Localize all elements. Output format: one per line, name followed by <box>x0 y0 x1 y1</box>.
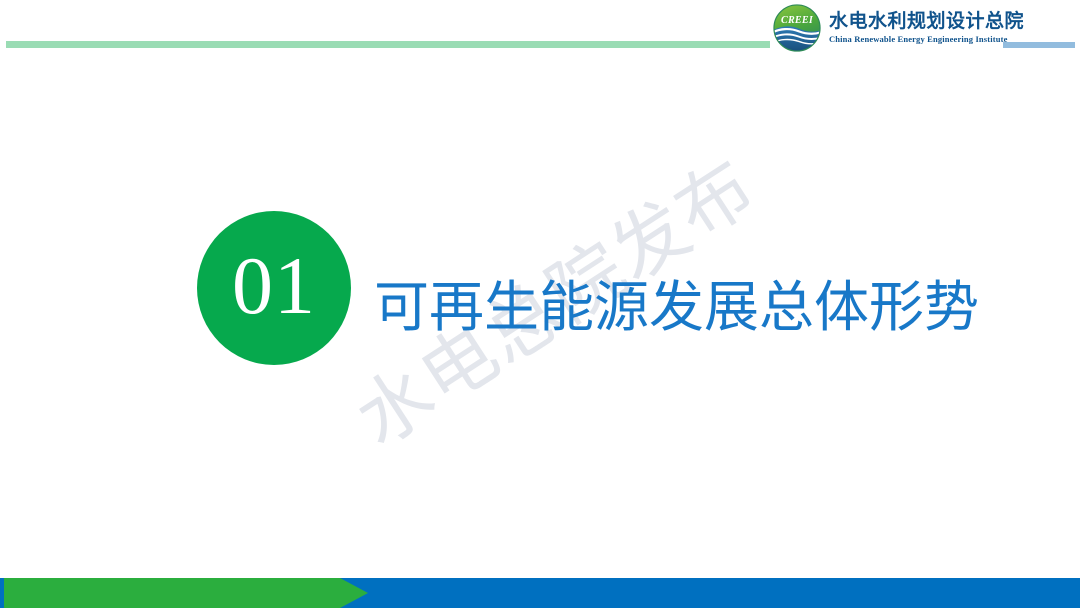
header-green-rule <box>6 41 770 48</box>
brand-text-block: 水电水利规划设计总院 China Renewable Energy Engine… <box>829 12 1024 44</box>
brand-lockup: CREEI 水电水利规划设计总院 China Renewable Energy … <box>773 3 1024 53</box>
slide-main-content: 01 可再生能源发展总体形势 <box>0 0 1080 608</box>
footer-decorative-bar <box>0 578 1080 608</box>
slide-canvas: 水电总院发布 <box>0 0 1080 608</box>
organization-name-en: China Renewable Energy Engineering Insti… <box>829 35 1024 44</box>
logo-acronym-text: CREEI <box>781 15 814 26</box>
section-title: 可再生能源发展总体形势 <box>374 277 979 338</box>
creei-circular-logo-icon: CREEI <box>773 4 821 52</box>
footer-left-accent-edge <box>0 578 4 608</box>
slide-header: CREEI 水电水利规划设计总院 China Renewable Energy … <box>0 0 1080 60</box>
organization-name-cn: 水电水利规划设计总院 <box>829 12 1024 31</box>
section-number-badge: 01 <box>197 211 351 365</box>
section-number-label: 01 <box>232 245 316 327</box>
footer-green-arrow-band <box>0 578 368 608</box>
